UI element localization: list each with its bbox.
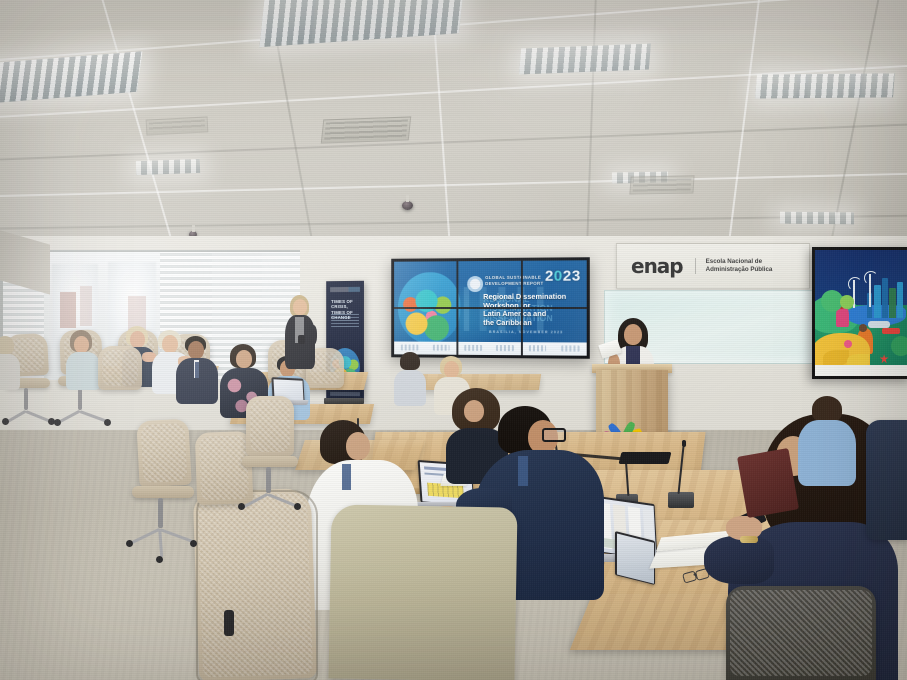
chair-lever[interactable] [224,610,234,636]
ceiling [0,0,907,268]
office-chair[interactable] [246,396,294,456]
boat-icon [868,321,890,328]
ceiling-light [780,212,854,225]
partner-logo [464,345,481,351]
enap-logo: enap [631,254,683,278]
folder [737,448,799,518]
scene-title: Conference room photograph [0,0,13,1]
partner-logo [401,345,418,351]
ceiling-light [755,73,895,98]
slide-date: BRASILIA, NOVEMBER 2023 [489,330,563,334]
un-emblem-icon [467,276,483,292]
enap-sign: enap Escola Nacional de Administração Pú… [616,243,810,289]
air-vent [321,116,411,143]
report-name: GLOBAL SUSTAINABLE DEVELOPMENT REPORT [485,275,551,287]
enap-subtitle: Escola Nacional de Administração Pública [695,258,773,274]
partner-logo [496,345,513,351]
security-camera-icon [402,201,413,210]
mobile-phone[interactable] [298,335,305,344]
office-chair[interactable] [98,346,142,390]
office-chair-foreground[interactable] [726,586,876,680]
partner-logo [529,346,547,352]
ceiling-light [519,43,651,74]
partner-logo [433,345,450,351]
illustration-panel [812,247,907,379]
office-chair-foreground[interactable] [328,504,517,680]
lanyard [342,464,351,490]
office-chair[interactable] [866,420,907,540]
lanyard [518,456,528,486]
partner-logo [561,346,579,352]
office-chair[interactable] [195,431,253,505]
report-year: 2023 [545,269,581,284]
video-wall-display: GLOBAL SUSTAINABLE DEVELOPMENT REPORT 20… [391,257,590,359]
banner-header-strip [330,287,360,292]
office-chair[interactable] [136,419,191,488]
banner-body-text [331,314,359,328]
ceiling-light [136,159,200,175]
air-vent [629,175,694,194]
power-brick [619,452,672,464]
slide-title: Regional Dissemination Workshop for Lati… [483,293,579,328]
conference-room-photo: TIMES OF CRISIS, TIMES OF CHANGE GLOBAL … [0,0,907,680]
slide-logo-bar [394,341,587,355]
banner-footer-logos [330,392,360,396]
wristwatch [740,536,758,543]
eyeglasses [542,428,566,442]
wind-turbine-icon [869,274,871,307]
air-vent [146,116,209,135]
flower-icon [844,340,852,348]
vehicle-icon [882,328,900,334]
